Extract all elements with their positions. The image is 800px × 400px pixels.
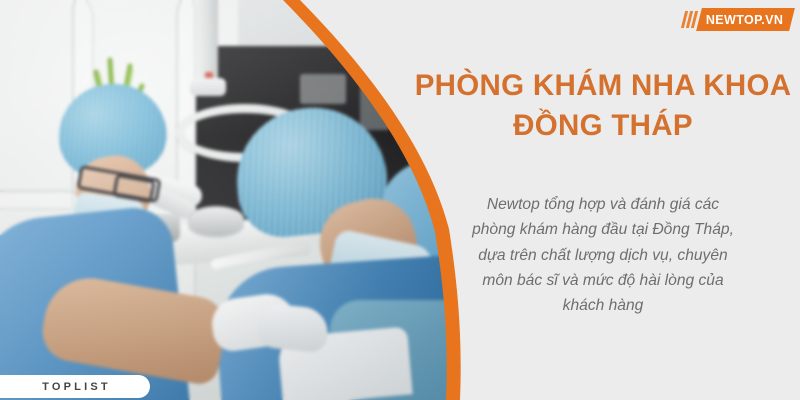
shelf-object (300, 74, 346, 104)
content-panel: PHÒNG KHÁM NHA KHOA ĐỒNG THÁP Newtop tổn… (400, 0, 800, 400)
shelf-object (360, 86, 390, 130)
newtop-logo[interactable]: NEWTOP.VN (680, 8, 795, 31)
logo-text: NEWTOP.VN (706, 13, 783, 27)
page-description: Newtop tổng hợp và đánh giá các phòng kh… (422, 192, 784, 318)
description-line-2: phòng khám hàng đầu tại Đồng Tháp, (422, 217, 784, 242)
description-line-3: dựa trên chất lượng dịch vụ, chuyên (422, 243, 784, 268)
description-line-1: Newtop tổng hợp và đánh giá các (422, 192, 784, 217)
page-title: PHÒNG KHÁM NHA KHOA ĐỒNG THÁP (410, 66, 796, 145)
title-line-2: ĐỒNG THÁP (410, 106, 796, 146)
description-line-4: môn bác sĩ và mức độ hài lòng của (422, 268, 784, 293)
toplist-badge: TOPLIST (0, 375, 150, 398)
instrument-bowl (188, 206, 244, 238)
banner-root: PHÒNG KHÁM NHA KHOA ĐỒNG THÁP Newtop tổn… (0, 0, 800, 400)
logo-plate: NEWTOP.VN (696, 8, 795, 31)
description-line-5: khách hàng (422, 293, 784, 318)
dental-lamp-joint (190, 78, 226, 96)
title-line-1: PHÒNG KHÁM NHA KHOA (410, 66, 796, 106)
toplist-badge-label: TOPLIST (39, 381, 111, 393)
